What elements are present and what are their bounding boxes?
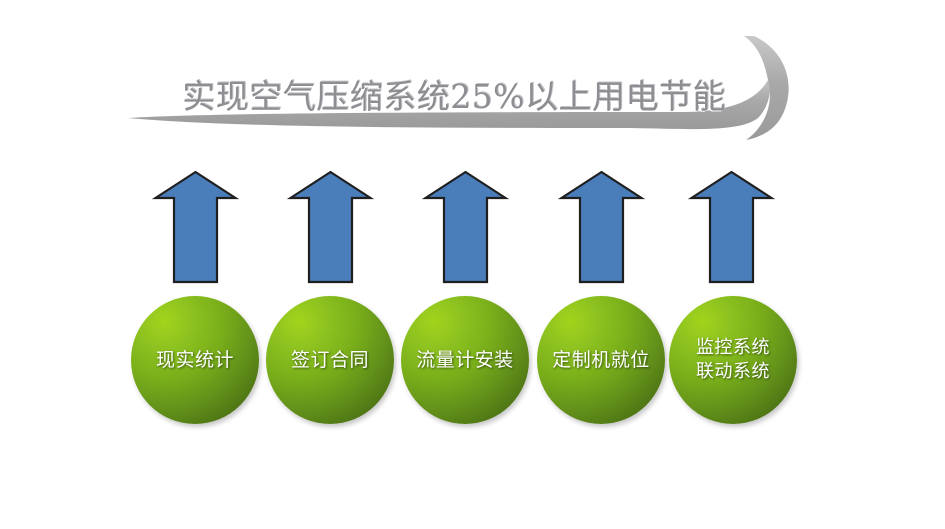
process-step-4[interactable]: 定制机就位	[534, 168, 669, 428]
step-label: 监控系统 联动系统	[692, 336, 774, 384]
process-diagram: 现实统计 签订合同 流量计安装	[0, 0, 945, 529]
step-circle-5[interactable]: 监控系统 联动系统	[669, 296, 797, 424]
step-circle-2[interactable]: 签订合同	[266, 296, 394, 424]
up-arrow-icon	[534, 168, 669, 286]
process-step-5[interactable]: 监控系统 联动系统	[666, 168, 801, 428]
up-arrow-icon	[666, 168, 801, 286]
step-label: 现实统计	[152, 348, 238, 373]
step-label: 流量计安装	[412, 348, 518, 373]
step-circle-4[interactable]: 定制机就位	[537, 296, 665, 424]
process-step-3[interactable]: 流量计安装	[398, 168, 533, 428]
up-arrow-icon	[263, 168, 398, 286]
step-circle-3[interactable]: 流量计安装	[401, 296, 529, 424]
process-step-2[interactable]: 签订合同	[263, 168, 398, 428]
up-arrow-icon	[128, 168, 263, 286]
step-label: 签订合同	[287, 348, 373, 373]
step-label: 定制机就位	[548, 348, 654, 373]
slide-canvas: 实现空气压缩系统25%以上用电节能 现实统计 签订合同	[0, 0, 945, 529]
up-arrow-icon	[398, 168, 533, 286]
step-circle-1[interactable]: 现实统计	[131, 296, 259, 424]
process-step-1[interactable]: 现实统计	[128, 168, 263, 428]
